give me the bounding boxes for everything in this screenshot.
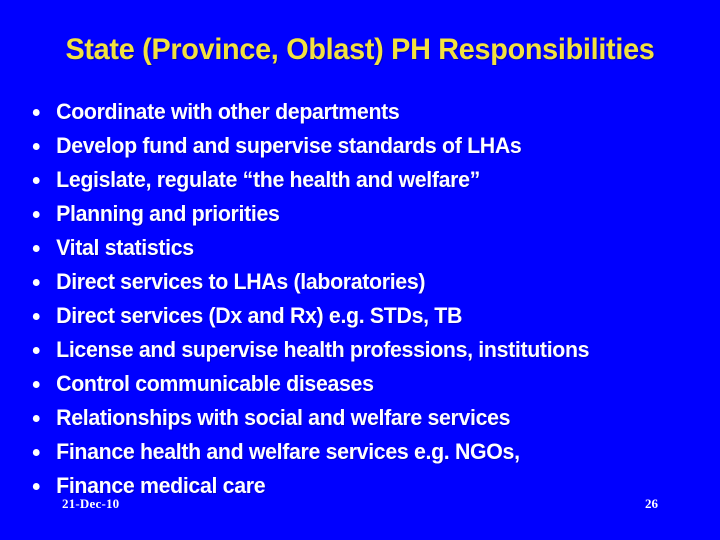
bullet-point-icon: [33, 177, 40, 184]
list-item-label: Planning and priorities: [56, 201, 279, 226]
list-item: Develop fund and supervise standards of …: [28, 130, 684, 164]
bullet-point-icon: [33, 381, 40, 388]
bullet-point-icon: [33, 449, 40, 456]
list-item-label: Develop fund and supervise standards of …: [56, 133, 521, 158]
presentation-slide: State (Province, Oblast) PH Responsibili…: [0, 0, 720, 540]
list-item: Direct services (Dx and Rx) e.g. STDs, T…: [28, 300, 684, 334]
list-item-label: License and supervise health professions…: [56, 337, 589, 362]
list-item: Legislate, regulate “the health and welf…: [28, 164, 684, 198]
bullet-point-icon: [33, 279, 40, 286]
list-item: Coordinate with other departments: [28, 96, 684, 130]
footer-page-number: 26: [645, 496, 658, 512]
list-item: Planning and priorities: [28, 198, 684, 232]
list-item-label: Relationships with social and welfare se…: [56, 405, 510, 430]
bullet-point-icon: [33, 483, 40, 490]
list-item: Finance medical care: [28, 470, 684, 504]
bullet-point-icon: [33, 347, 40, 354]
list-item-label: Coordinate with other departments: [56, 99, 399, 124]
bullet-point-icon: [33, 143, 40, 150]
footer-date: 21-Dec-10: [62, 496, 119, 512]
bullet-point-icon: [33, 211, 40, 218]
list-item-label: Finance medical care: [56, 473, 265, 498]
list-item-label: Control communicable diseases: [56, 371, 373, 396]
list-item-label: Finance health and welfare services e.g.…: [56, 439, 520, 464]
list-item: Direct services to LHAs (laboratories): [28, 266, 684, 300]
bullet-list: Coordinate with other departments Develo…: [28, 96, 704, 504]
list-item: Relationships with social and welfare se…: [28, 402, 684, 436]
list-item-label: Legislate, regulate “the health and welf…: [56, 167, 480, 192]
list-item: Control communicable diseases: [28, 368, 684, 402]
bullet-point-icon: [33, 109, 40, 116]
bullet-point-icon: [33, 415, 40, 422]
list-item: Finance health and welfare services e.g.…: [28, 436, 684, 470]
list-item: Vital statistics: [28, 232, 684, 266]
slide-title: State (Province, Oblast) PH Responsibili…: [14, 33, 705, 67]
list-item-label: Vital statistics: [56, 235, 194, 260]
bullet-point-icon: [33, 313, 40, 320]
list-item-label: Direct services to LHAs (laboratories): [56, 269, 425, 294]
list-item-label: Direct services (Dx and Rx) e.g. STDs, T…: [56, 303, 462, 328]
list-item: License and supervise health professions…: [28, 334, 684, 368]
bullet-point-icon: [33, 245, 40, 252]
